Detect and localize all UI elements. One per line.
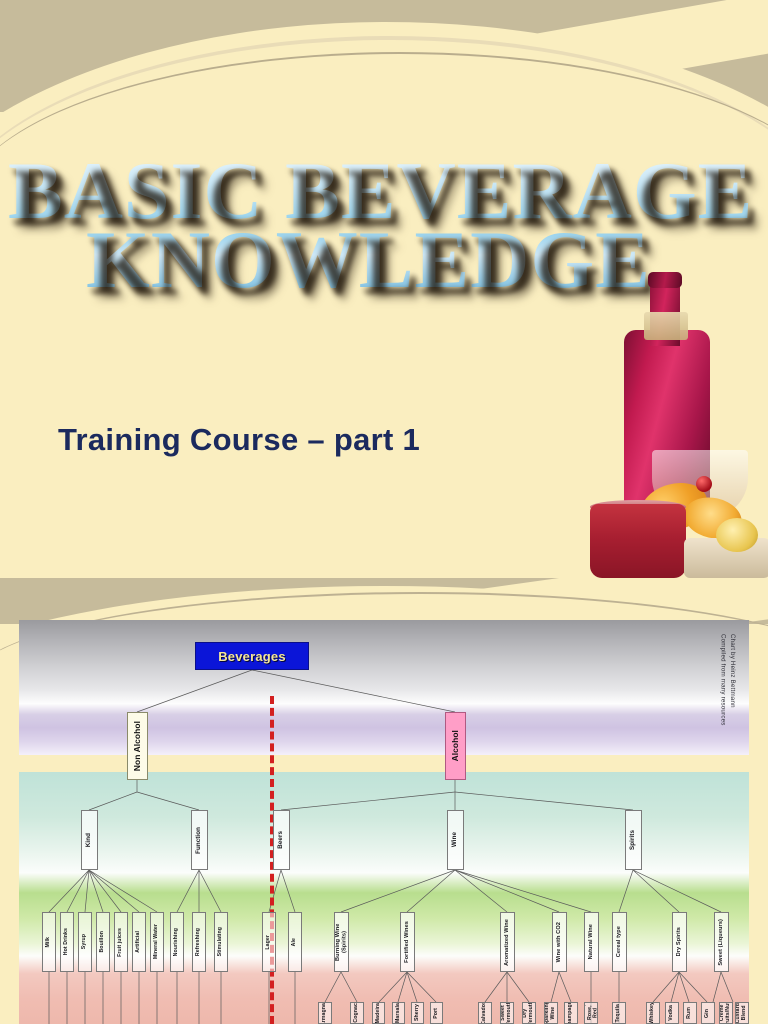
node-rum[interactable]: Rum xyxy=(683,1002,697,1024)
node-vodka[interactable]: Vodka xyxy=(665,1002,679,1024)
slide-title: BASIC BEVERAGE KNOWLEDGE Training Course… xyxy=(0,0,768,578)
node-alcohol[interactable]: Alcohol xyxy=(445,712,466,780)
node-wine-with-co2[interactable]: Wine with CO2 xyxy=(552,912,567,972)
node-beers[interactable]: Beers xyxy=(273,810,290,870)
presentation-page: BASIC BEVERAGE KNOWLEDGE Training Course… xyxy=(0,0,768,1024)
node-wine[interactable]: Wine xyxy=(447,810,464,870)
node-sweet-vermouth[interactable]: Sweet Vermouth xyxy=(500,1002,514,1024)
node-ale[interactable]: Ale xyxy=(288,912,302,972)
node-bouillon[interactable]: Bouillon xyxy=(96,912,110,972)
node-fruit-juices[interactable]: Fruit juices xyxy=(114,912,128,972)
node-beverages[interactable]: Beverages xyxy=(195,642,309,670)
node-stimulating[interactable]: Stimulating xyxy=(214,912,228,972)
node-tequila[interactable]: Tequila xyxy=(612,1002,626,1024)
subtitle: Training Course – part 1 xyxy=(58,422,420,458)
bottle-cap-shape xyxy=(648,272,682,288)
node-hot-drinks[interactable]: Hot Drinks xyxy=(60,912,74,972)
node-armagnac[interactable]: Armagnac xyxy=(318,1002,332,1024)
node-sherry[interactable]: Sherry xyxy=(411,1002,424,1024)
node-creme-fruits-nuts[interactable]: Crème (Fruits/Nuts) xyxy=(719,1002,733,1024)
node-lager[interactable]: Lager xyxy=(262,912,276,972)
node-custard-blend[interactable]: Custard Blend xyxy=(735,1002,749,1024)
red-drink-tumbler xyxy=(590,504,686,578)
node-champagne[interactable]: Champagne xyxy=(564,1002,578,1024)
node-syrup[interactable]: Syrup xyxy=(78,912,92,972)
node-gin[interactable]: Gin xyxy=(701,1002,715,1024)
node-cognac[interactable]: Cognac xyxy=(350,1002,364,1024)
node-aromatized-wine[interactable]: Aromatized Wine xyxy=(500,912,515,972)
node-sparkling-wine[interactable]: Sparkling Wine xyxy=(544,1002,558,1024)
node-white-rose-red[interactable]: White, Rose, Red xyxy=(584,1002,598,1024)
node-natural-wine[interactable]: Natural Wine xyxy=(584,912,599,972)
beverage-photo xyxy=(588,272,768,578)
node-dry-spirits[interactable]: Dry Spirits xyxy=(672,912,687,972)
node-artificial[interactable]: Artificial xyxy=(132,912,146,972)
node-dry-vermouth[interactable]: Dry Vermouth xyxy=(522,1002,536,1024)
node-marsala[interactable]: Marsala xyxy=(392,1002,405,1024)
node-whiskey[interactable]: Whiskey xyxy=(646,1002,660,1024)
node-milk[interactable]: Milk xyxy=(42,912,56,972)
beverages-classification-chart: Chart by Heinz Bettmann Compiled from ma… xyxy=(19,620,749,1024)
cherry-garnish xyxy=(696,476,712,492)
node-nourishing[interactable]: Nourishing xyxy=(170,912,184,972)
node-kind[interactable]: Kind xyxy=(81,810,98,870)
bottle-label-shape xyxy=(644,312,688,340)
node-non-alcohol[interactable]: Non Alcohol xyxy=(127,712,148,780)
node-calvados[interactable]: Calvados xyxy=(478,1002,492,1024)
lemon-slice xyxy=(716,518,758,552)
node-burning-wine[interactable]: Burning Wine (Spirits) xyxy=(334,912,349,972)
node-spirits[interactable]: Spirits xyxy=(625,810,642,870)
chart-credit: Chart by Heinz Bettmann Compiled from ma… xyxy=(718,634,737,726)
node-function[interactable]: Function xyxy=(191,810,208,870)
node-mineral-water[interactable]: Mineral Water xyxy=(150,912,164,972)
slide-beverage-chart: Chart by Heinz Bettmann Compiled from ma… xyxy=(0,578,768,1024)
node-madeira[interactable]: Madeira xyxy=(372,1002,385,1024)
node-fortified-wines[interactable]: Fortified Wines xyxy=(400,912,415,972)
node-refreshing[interactable]: Refreshing xyxy=(192,912,206,972)
node-cereal-type[interactable]: Cereal type xyxy=(612,912,627,972)
node-sweet-liqueurs[interactable]: Sweet (Liqueurs) xyxy=(714,912,729,972)
node-port[interactable]: Port xyxy=(430,1002,443,1024)
